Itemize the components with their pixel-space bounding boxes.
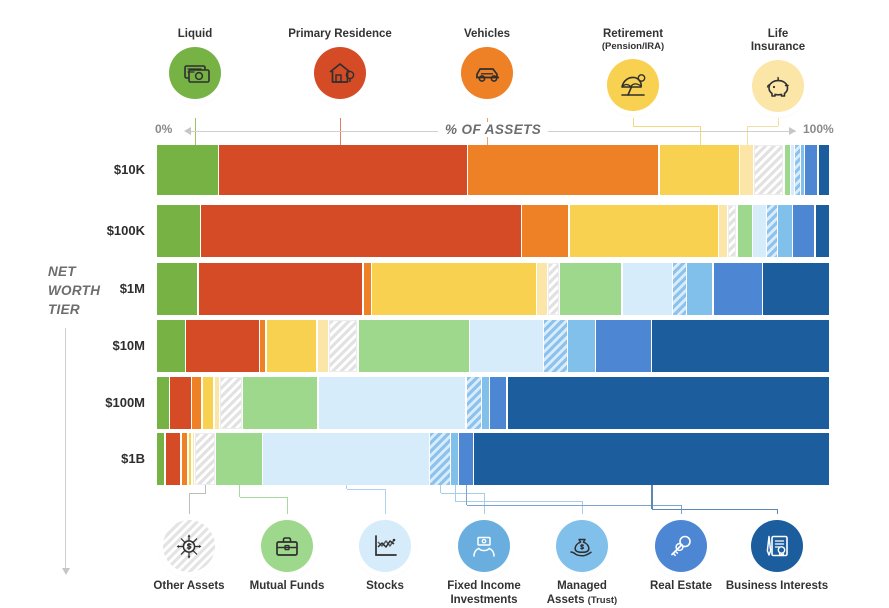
hands-money-icon[interactable] bbox=[458, 520, 510, 572]
top-legend-item-liquid[interactable]: Liquid bbox=[125, 28, 265, 99]
table-row bbox=[157, 433, 830, 485]
piggy-bank-icon[interactable] bbox=[752, 60, 804, 112]
briefcase-icon[interactable] bbox=[261, 520, 313, 572]
bar-segment bbox=[216, 433, 262, 485]
table-row bbox=[157, 377, 830, 429]
top-legend-label-primary_residence: Primary Residence bbox=[270, 28, 410, 41]
cash-icon[interactable] bbox=[169, 47, 221, 99]
bar-segment bbox=[372, 263, 535, 315]
contract-pen-icon[interactable] bbox=[751, 520, 803, 572]
axis-left-arrow-icon bbox=[184, 127, 191, 135]
bar-segment bbox=[544, 320, 567, 372]
bottom-connector-mutual_funds bbox=[287, 497, 288, 514]
bottom-connector-managed_assets bbox=[455, 501, 582, 502]
axis-y-title-line3: TIER bbox=[48, 302, 80, 317]
bar-segment bbox=[220, 377, 241, 429]
bar-segment bbox=[186, 320, 259, 372]
bar-segment bbox=[201, 205, 521, 257]
row-label-3: $10M bbox=[60, 338, 145, 353]
bar-segment bbox=[791, 145, 794, 195]
top-connector-life_insurance bbox=[778, 118, 779, 126]
bar-segment bbox=[767, 205, 776, 257]
bar-segment bbox=[522, 205, 568, 257]
top-legend-item-vehicles[interactable]: Vehicles bbox=[417, 28, 557, 99]
axis-x-title: % OF ASSETS bbox=[438, 122, 548, 137]
bar-segment bbox=[652, 320, 828, 372]
bar-segment bbox=[157, 145, 218, 195]
bar-segment bbox=[623, 263, 672, 315]
axis-y-arrow-line bbox=[65, 328, 66, 568]
bottom-connector-real_estate bbox=[467, 505, 681, 506]
bar-segment bbox=[785, 145, 790, 195]
axis-right-arrow-icon bbox=[789, 127, 796, 135]
row-label-1: $100K bbox=[60, 223, 145, 238]
bottom-connector-other_assets bbox=[189, 493, 206, 494]
bottom-connector-stocks bbox=[385, 489, 386, 514]
bar-segment bbox=[801, 145, 804, 195]
bottom-connector-mutual_funds bbox=[240, 497, 287, 498]
axis-x-max-label: 100% bbox=[803, 122, 834, 136]
money-bag-hand-icon[interactable] bbox=[556, 520, 608, 572]
bar-segment bbox=[243, 377, 317, 429]
top-connector-liquid bbox=[195, 118, 196, 145]
bottom-connector-real_estate bbox=[466, 485, 467, 505]
bar-segment bbox=[660, 145, 739, 195]
bar-segment bbox=[364, 263, 371, 315]
table-row bbox=[157, 263, 830, 315]
bar-segment bbox=[468, 145, 658, 195]
bar-segment bbox=[714, 263, 762, 315]
bar-segment bbox=[157, 263, 197, 315]
bottom-legend-label-business_interests: Business Interests bbox=[717, 579, 837, 593]
bottom-connector-fixed_income bbox=[484, 493, 485, 514]
bar-segment bbox=[329, 320, 357, 372]
top-connector-primary_residence bbox=[340, 118, 341, 145]
car-icon[interactable] bbox=[461, 47, 513, 99]
top-legend-sublabel-retirement: (Pension/IRA) bbox=[563, 41, 703, 53]
bar-segment bbox=[203, 377, 214, 429]
beach-umbrella-icon[interactable] bbox=[607, 59, 659, 111]
top-legend-item-primary_residence[interactable]: Primary Residence bbox=[270, 28, 410, 99]
bar-segment bbox=[430, 433, 449, 485]
bar-segment bbox=[568, 320, 595, 372]
bar-segment bbox=[157, 433, 164, 485]
bottom-connector-managed_assets bbox=[582, 501, 583, 514]
bottom-connector-business_interests bbox=[651, 485, 652, 509]
bottom-connector-managed_assets bbox=[455, 485, 456, 501]
top-connector-retirement bbox=[700, 126, 701, 145]
bar-segment bbox=[753, 205, 766, 257]
axis-x-min-label: 0% bbox=[155, 122, 172, 136]
bottom-connector-other_assets bbox=[189, 493, 190, 514]
bar-segment bbox=[267, 320, 317, 372]
top-legend-label2-life_insurance: Insurance bbox=[708, 41, 848, 54]
top-legend-label-life_insurance: Life bbox=[708, 28, 848, 41]
bottom-connector-fixed_income bbox=[441, 493, 484, 494]
bar-segment bbox=[728, 205, 736, 257]
bar-segment bbox=[763, 263, 828, 315]
bar-segment bbox=[451, 433, 458, 485]
top-connector-retirement bbox=[633, 126, 700, 127]
house-icon[interactable] bbox=[314, 47, 366, 99]
bar-segment bbox=[738, 205, 752, 257]
bar-segment bbox=[673, 263, 686, 315]
top-connector-life_insurance bbox=[747, 126, 748, 145]
bar-segment bbox=[318, 320, 328, 372]
bottom-connector-fixed_income bbox=[440, 485, 441, 493]
bar-segment bbox=[199, 263, 362, 315]
bar-segment bbox=[192, 377, 201, 429]
bar-segment bbox=[805, 145, 817, 195]
bar-segment bbox=[182, 433, 187, 485]
bar-segment bbox=[560, 263, 621, 315]
table-row bbox=[157, 320, 830, 372]
bar-segment bbox=[793, 205, 814, 257]
top-legend-item-life_insurance[interactable]: LifeInsurance bbox=[708, 28, 848, 112]
bar-segment bbox=[359, 320, 469, 372]
top-legend-item-retirement[interactable]: Retirement(Pension/IRA) bbox=[563, 28, 703, 111]
bottom-connector-other_assets bbox=[205, 485, 206, 493]
bottom-connector-stocks bbox=[347, 489, 385, 490]
row-label-2: $1M bbox=[60, 281, 145, 296]
bar-segment bbox=[778, 205, 791, 257]
bottom-connector-mutual_funds bbox=[239, 485, 240, 497]
row-label-0: $10K bbox=[60, 162, 145, 177]
bar-segment bbox=[157, 377, 169, 429]
bar-segment bbox=[754, 145, 784, 195]
top-legend-label-vehicles: Vehicles bbox=[417, 28, 557, 41]
bottom-legend-label2-managed_assets: Assets (Trust) bbox=[522, 593, 642, 608]
bar-segment bbox=[157, 205, 200, 257]
network-dollar-icon[interactable] bbox=[163, 520, 215, 572]
table-row bbox=[157, 205, 830, 257]
bar-segment bbox=[740, 145, 752, 195]
bar-segment bbox=[570, 205, 718, 257]
bar-segment bbox=[687, 263, 712, 315]
bar-segment bbox=[166, 433, 181, 485]
table-row bbox=[157, 145, 830, 195]
bar-segment bbox=[170, 377, 190, 429]
row-label-5: $1B bbox=[60, 451, 145, 466]
infographic-root: Liquid Primary Residence Vehicles Retire… bbox=[0, 0, 889, 605]
bar-segment bbox=[193, 433, 194, 485]
top-connector-life_insurance bbox=[747, 126, 778, 127]
top-connector-retirement bbox=[633, 118, 634, 126]
bar-segment bbox=[319, 377, 466, 429]
bar-segment bbox=[459, 433, 472, 485]
bar-segment bbox=[470, 320, 543, 372]
bar-segment bbox=[508, 377, 829, 429]
key-magnifier-icon[interactable] bbox=[655, 520, 707, 572]
bar-segment bbox=[195, 433, 214, 485]
bar-segment bbox=[719, 205, 727, 257]
bar-segment bbox=[260, 320, 265, 372]
bar-segment bbox=[819, 145, 829, 195]
bar-segment bbox=[215, 377, 219, 429]
bar-segment bbox=[795, 145, 800, 195]
bar-segment bbox=[548, 263, 559, 315]
bar-segment bbox=[219, 145, 467, 195]
top-legend-label-liquid: Liquid bbox=[125, 28, 265, 41]
axis-y-arrow-head-icon bbox=[62, 568, 70, 575]
bar-segment bbox=[490, 377, 506, 429]
bar-segment bbox=[157, 320, 185, 372]
bottom-connector-business_interests bbox=[652, 509, 777, 510]
bar-segment bbox=[189, 433, 192, 485]
bar-segment bbox=[816, 205, 829, 257]
bar-segment bbox=[537, 263, 546, 315]
row-label-4: $100M bbox=[60, 395, 145, 410]
top-legend-label-retirement: Retirement bbox=[563, 28, 703, 41]
line-chart-icon[interactable] bbox=[359, 520, 411, 572]
bar-segment bbox=[263, 433, 429, 485]
bar-segment bbox=[474, 433, 829, 485]
bar-segment bbox=[596, 320, 650, 372]
bar-segment bbox=[467, 377, 481, 429]
bottom-legend-item-business_interests[interactable]: Business Interests bbox=[717, 514, 837, 593]
axis-y-title-line1: NET bbox=[48, 264, 76, 279]
bar-segment bbox=[482, 377, 489, 429]
